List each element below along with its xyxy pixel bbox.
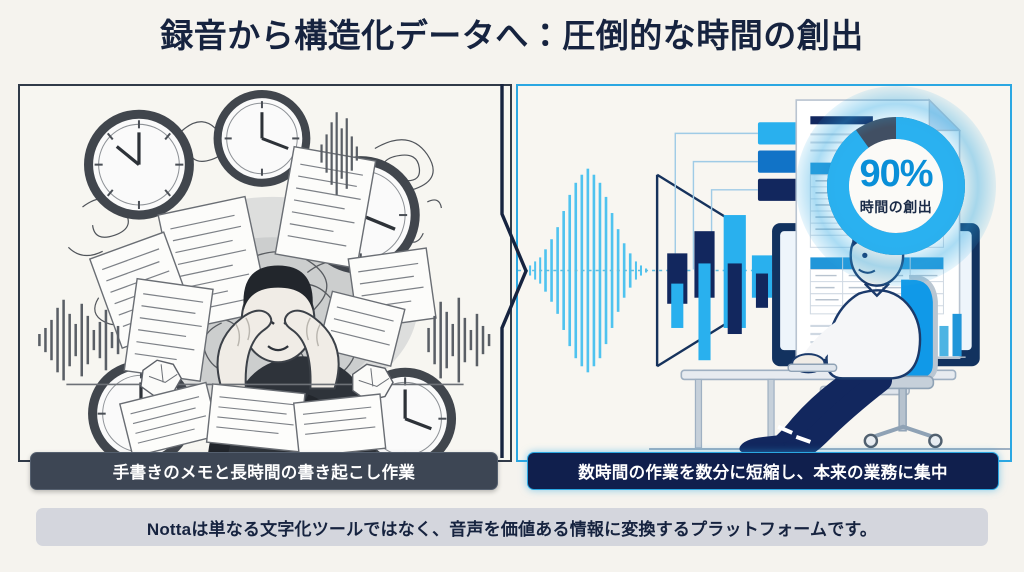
time-savings-donut: 90% 時間の創出 — [818, 108, 974, 264]
left-panel-before — [18, 84, 512, 462]
left-panel-caption: 手書きのメモと長時間の書き起こし作業 — [30, 452, 498, 490]
right-panel-caption: 数時間の作業を数分に短縮し、本来の業務に集中 — [527, 452, 999, 490]
donut-glow — [796, 86, 996, 286]
stressed-worker-illustration — [20, 86, 510, 459]
footer-message: Nottaは単なる文字化ツールではなく、音声を価値ある情報に変換するプラットフォ… — [36, 508, 988, 546]
page-title: 録音から構造化データへ：圧倒的な時間の創出 — [0, 16, 1024, 56]
slide-root: 録音から構造化データへ：圧倒的な時間の創出 — [0, 0, 1024, 572]
